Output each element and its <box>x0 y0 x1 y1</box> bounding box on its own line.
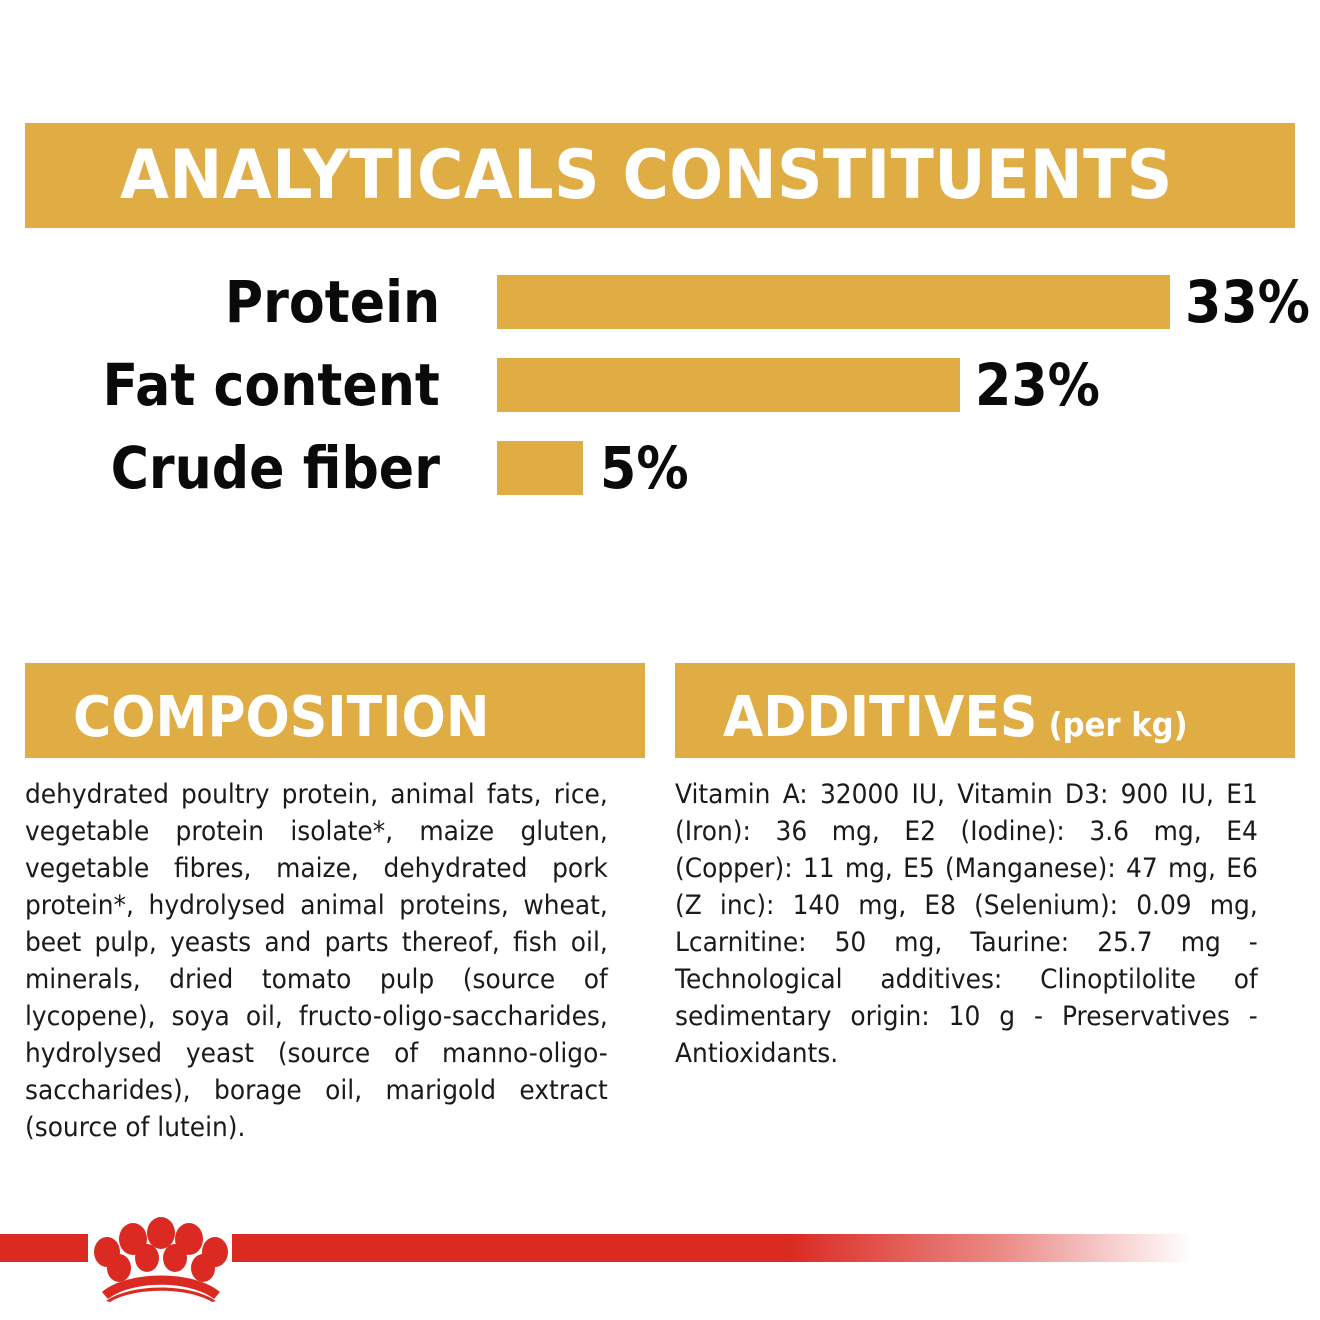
additives-title: ADDITIVES(per kg) <box>723 690 1188 746</box>
composition-title: COMPOSITION <box>73 690 489 746</box>
footer-rule-left <box>0 1234 88 1262</box>
chart-bar-track-fat-content <box>497 358 960 412</box>
chart-value-crude-fiber: 5% <box>600 439 689 497</box>
analytical-constituents-chart: Protein 33% Fat content 23% Crude fiber … <box>0 262 1320 507</box>
footer <box>0 1228 1320 1320</box>
chart-bar-track-crude-fiber <box>497 441 583 495</box>
chart-value-protein: 33% <box>1185 273 1310 331</box>
chart-bar-fill-crude-fiber <box>497 441 583 495</box>
chart-row-label-protein: Protein <box>225 273 440 331</box>
chart-row-label-fat-content: Fat content <box>103 356 440 414</box>
chart-row-protein: Protein 33% <box>0 262 1320 342</box>
royal-canin-crown-logo <box>88 1198 234 1302</box>
chart-bar-track-protein <box>497 275 1170 329</box>
chart-row-crude-fiber: Crude fiber 5% <box>0 428 1320 508</box>
additives-title-subtitle: (per kg) <box>1049 705 1188 744</box>
additives-banner: ADDITIVES(per kg) <box>675 663 1295 758</box>
additives-body-text: Vitamin A: 32000 IU, Vitamin D3: 900 IU,… <box>675 776 1258 1072</box>
chart-row-label-crude-fiber: Crude fiber <box>111 439 440 497</box>
chart-row-fat-content: Fat content 23% <box>0 345 1320 425</box>
chart-bar-fill-fat-content <box>497 358 960 412</box>
composition-banner: COMPOSITION <box>25 663 645 758</box>
analyticals-constituents-banner: ANALYTICALS CONSTITUENTS <box>25 123 1295 228</box>
composition-body-text: dehydrated poultry protein, animal fats,… <box>25 776 608 1146</box>
footer-rule-right <box>232 1234 1192 1262</box>
chart-bar-fill-protein <box>497 275 1170 329</box>
analyticals-constituents-title: ANALYTICALS CONSTITUENTS <box>120 142 1173 210</box>
additives-title-main: ADDITIVES <box>723 685 1037 750</box>
chart-value-fat-content: 23% <box>975 356 1100 414</box>
